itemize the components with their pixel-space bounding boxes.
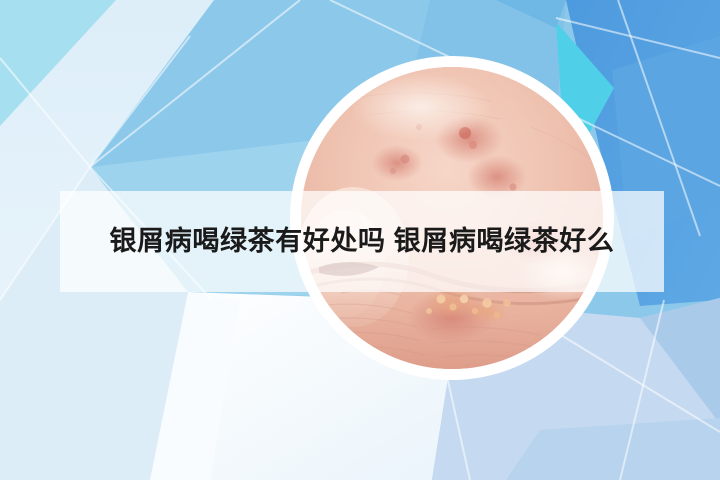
page-title: 银屑病喝绿茶有好处吗 银屑病喝绿茶好么 bbox=[60, 191, 664, 292]
article-banner: 银屑病喝绿茶有好处吗 银屑病喝绿茶好么 bbox=[0, 0, 720, 480]
